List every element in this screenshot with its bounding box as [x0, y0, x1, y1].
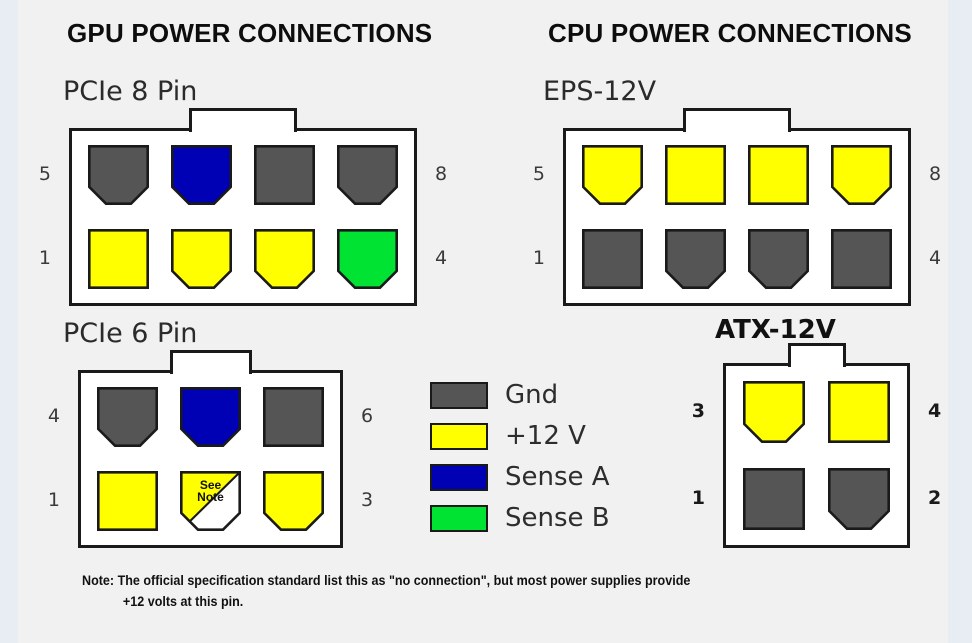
pin-number-pcie8-top-left: 5	[39, 163, 51, 185]
pin-number-eps12v-top-right: 8	[929, 163, 941, 185]
heading-gpu-power-connections: GPU POWER CONNECTIONS	[67, 18, 432, 49]
legend-item-sense-a: Sense A	[430, 460, 610, 494]
pin-number-pcie6-bottom-left: 1	[48, 489, 60, 511]
pin-pcie8-1	[88, 229, 149, 289]
pin-eps12v-1	[582, 229, 643, 289]
footnote-line-1: Note: The official specification standar…	[82, 570, 882, 591]
pin-pcie8-6	[171, 145, 232, 205]
connector-name-pcie8: PCIe 8 Pin	[63, 76, 197, 107]
pin-pcie6-1	[97, 471, 158, 531]
pin-eps12v-3	[748, 229, 809, 289]
pin-number-atx12v-top-right: 4	[928, 400, 941, 422]
latch-seam-mask-eps12v	[686, 127, 788, 132]
legend-label: Sense A	[505, 462, 610, 492]
connector-atx-12v: ATX-12V3412	[723, 363, 910, 548]
footnote: Note: The official specification standar…	[82, 570, 882, 612]
pin-number-eps12v-top-left: 5	[533, 163, 545, 185]
pin-number-eps12v-bottom-right: 4	[929, 247, 941, 269]
pin-number-pcie6-top-left: 4	[48, 405, 60, 427]
pin-atx12v-1	[743, 468, 805, 530]
latch-seam-mask-pcie8	[192, 127, 294, 132]
legend-item-12-v: +12 V	[430, 419, 586, 453]
connector-name-atx12v: ATX-12V	[715, 315, 836, 345]
legend-label: Sense B	[505, 503, 610, 533]
pin-number-pcie8-bottom-right: 4	[435, 247, 447, 269]
connector-name-pcie6: PCIe 6 Pin	[63, 318, 197, 349]
latch-seam-mask-atx12v	[791, 362, 843, 367]
pin-pcie6-2: SeeNote	[180, 471, 241, 531]
connector-pcie-8-pin: PCIe 8 Pin5814	[69, 128, 417, 306]
latch-seam-mask-pcie6	[173, 369, 249, 374]
pin-pcie6-4	[97, 387, 158, 447]
heading-cpu-power-connections: CPU POWER CONNECTIONS	[548, 18, 912, 49]
pin-pcie8-8	[337, 145, 398, 205]
pin-number-pcie8-bottom-left: 1	[39, 247, 51, 269]
legend-label: +12 V	[505, 421, 586, 451]
pin-number-atx12v-bottom-left: 1	[692, 487, 705, 509]
connector-pcie-6-pin: PCIe 6 PinSeeNote4613	[78, 370, 343, 548]
pin-eps12v-7	[748, 145, 809, 205]
pin-number-eps12v-bottom-left: 1	[533, 247, 545, 269]
footnote-line-2: +12 volts at this pin.	[82, 591, 882, 612]
pin-pcie8-5	[88, 145, 149, 205]
pin-pcie6-3	[263, 471, 324, 531]
pin-atx12v-3	[743, 381, 805, 443]
pin-pcie8-2	[171, 229, 232, 289]
diagram-canvas: GPU POWER CONNECTIONS CPU POWER CONNECTI…	[18, 0, 948, 643]
pin-eps12v-6	[665, 145, 726, 205]
pin-eps12v-2	[665, 229, 726, 289]
pin-number-atx12v-top-left: 3	[692, 400, 705, 422]
pin-number-pcie6-top-right: 6	[361, 405, 373, 427]
pin-eps12v-8	[831, 145, 892, 205]
legend-swatch-p12v	[430, 423, 488, 450]
pin-pcie6-5	[180, 387, 241, 447]
pin-pcie8-4	[337, 229, 398, 289]
pin-number-pcie6-bottom-right: 3	[361, 489, 373, 511]
pin-pcie8-7	[254, 145, 315, 205]
pin-number-pcie8-top-right: 8	[435, 163, 447, 185]
pin-eps12v-5	[582, 145, 643, 205]
legend-item-sense-b: Sense B	[430, 501, 610, 535]
legend-swatch-gnd	[430, 382, 488, 409]
pin-atx12v-4	[828, 381, 890, 443]
legend-swatch-sense-a	[430, 464, 488, 491]
pin-number-atx12v-bottom-right: 2	[928, 487, 941, 509]
connector-eps-12v: EPS-12V5814	[563, 128, 911, 306]
pin-pcie8-3	[254, 229, 315, 289]
legend-item-gnd: Gnd	[430, 378, 558, 412]
pin-pcie6-6	[263, 387, 324, 447]
pin-eps12v-4	[831, 229, 892, 289]
pin-atx12v-2	[828, 468, 890, 530]
legend-swatch-sense-b	[430, 505, 488, 532]
legend-label: Gnd	[505, 380, 558, 410]
connector-name-eps12v: EPS-12V	[543, 76, 656, 107]
